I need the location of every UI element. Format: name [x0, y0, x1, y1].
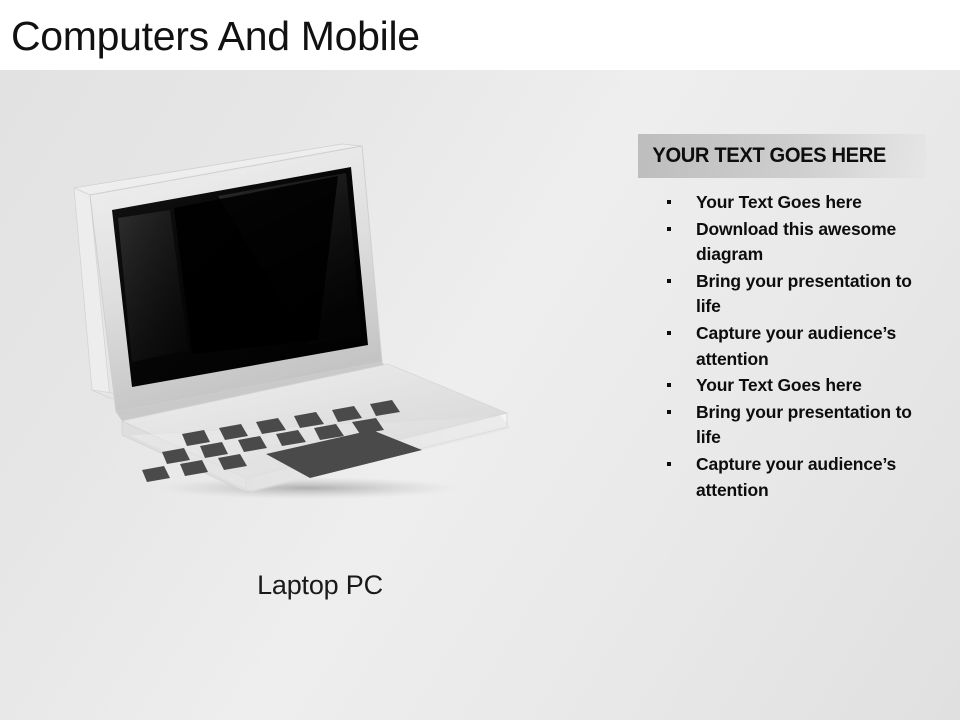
laptop-shadow [158, 477, 458, 499]
laptop-caption: Laptop PC [155, 570, 485, 601]
list-item: Download this awesome diagram [660, 217, 928, 268]
bullet-list: Your Text Goes here Download this awesom… [660, 190, 928, 504]
list-item-label: Bring your presentation to life [696, 402, 912, 448]
list-item: Your Text Goes here [660, 373, 928, 399]
bullet-icon [667, 279, 671, 283]
text-panel: YOUR TEXT GOES HERE Your Text Goes here … [638, 134, 948, 178]
list-item-label: Download this awesome diagram [696, 219, 896, 265]
list-item-label: Capture your audience’s attention [696, 323, 896, 369]
bullet-icon [667, 227, 671, 231]
page-title: Computers And Mobile [11, 9, 420, 63]
list-item: Bring your presentation to life [660, 269, 928, 320]
list-item: Bring your presentation to life [660, 400, 928, 451]
slide-canvas: Computers And Mobile [0, 0, 960, 720]
bullet-icon [667, 383, 671, 387]
list-item-label: Your Text Goes here [696, 375, 862, 395]
list-item-label: Bring your presentation to life [696, 271, 912, 317]
list-item: Capture your audience’s attention [660, 321, 928, 372]
list-item-label: Capture your audience’s attention [696, 454, 896, 500]
list-item: Your Text Goes here [660, 190, 928, 216]
bullet-icon [667, 200, 671, 204]
bullet-icon [667, 331, 671, 335]
panel-header-label: YOUR TEXT GOES HERE [638, 144, 886, 168]
laptop-graphic [70, 140, 530, 520]
laptop-illustration [70, 140, 530, 520]
panel-header: YOUR TEXT GOES HERE [638, 134, 926, 178]
list-item-label: Your Text Goes here [696, 192, 862, 212]
list-item: Capture your audience’s attention [660, 452, 928, 503]
bullet-icon [667, 462, 671, 466]
bullet-icon [667, 410, 671, 414]
